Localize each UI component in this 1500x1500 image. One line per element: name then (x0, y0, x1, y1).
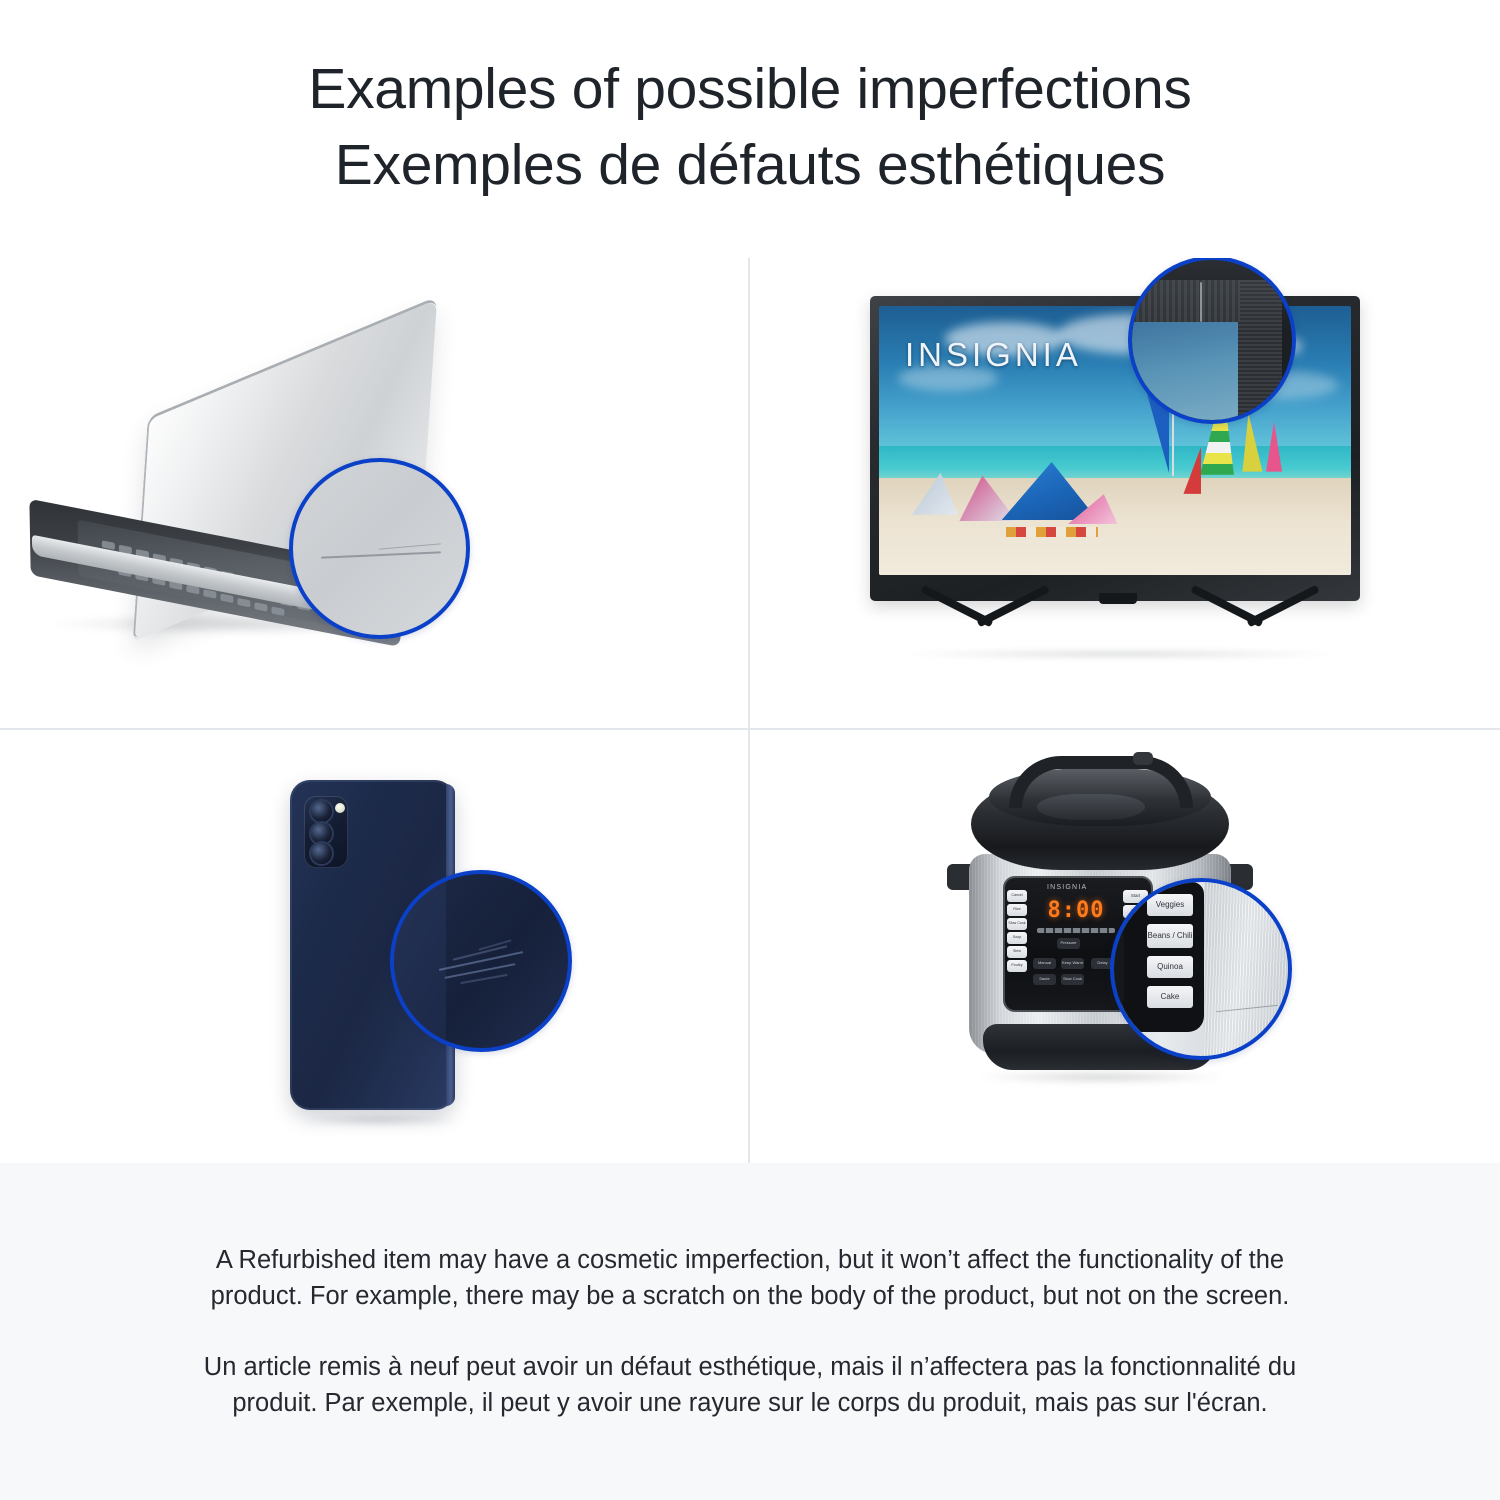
phone-camera-flash (335, 803, 345, 813)
example-cell-laptop (0, 258, 748, 728)
cooker-button-cancel[interactable]: Cancel (1007, 890, 1027, 902)
refurbished-imperfections-page: Examples of possible imperfections Exemp… (0, 0, 1500, 1500)
page-title-en: Examples of possible imperfections (308, 52, 1191, 127)
cooker-button-manual[interactable]: Manual (1033, 958, 1056, 969)
cooker-button-rice[interactable]: Rice (1007, 904, 1027, 916)
magnified-button-cake[interactable]: Cake (1147, 986, 1193, 1008)
cooker-pressure-scale (1037, 928, 1115, 933)
phone-camera-lens-3 (311, 843, 332, 864)
cooker-button-stew[interactable]: Stew (1007, 946, 1027, 958)
phone-camera-module (304, 796, 348, 868)
magnifier-tv-corner-scuff (1128, 258, 1296, 424)
tv-shadow (910, 648, 1330, 660)
cooker-button-slow-cook-inner[interactable]: Slow Cook (1061, 974, 1084, 985)
cooker-button-keep-warm[interactable]: Keep Warm (1061, 958, 1084, 969)
cooker-brand-text: INSIGNIA (1047, 884, 1087, 891)
example-cell-pressure-cooker: INSIGNIA 8:00 Cancel Rice Slow Cook Soup… (748, 728, 1500, 1163)
cooker-button-slow-cook[interactable]: Slow Cook (1007, 918, 1027, 930)
phone-camera-lens-2 (311, 823, 332, 844)
cooker-lid-handle (1009, 756, 1193, 808)
tv-brand-text: INSIGNIA (905, 336, 1082, 374)
cooker-display-value: 8:00 (1039, 898, 1113, 922)
disclaimer-footer: A Refurbished item may have a cosmetic i… (0, 1163, 1500, 1500)
tv-ir-receiver (1099, 593, 1137, 604)
magnifier-laptop-scratch (289, 458, 470, 639)
magnified-button-beans-chili[interactable]: Beans / Chili (1147, 924, 1193, 948)
cooker-button-soup[interactable]: Soup (1007, 932, 1027, 944)
example-cell-television: INSIGNIA (748, 258, 1500, 728)
cooker-shadow (981, 1070, 1221, 1084)
disclaimer-text-en: A Refurbished item may have a cosmetic i… (185, 1242, 1315, 1314)
disclaimer-text-fr: Un article remis à neuf peut avoir un dé… (185, 1349, 1315, 1421)
examples-grid: INSIGNIA (0, 258, 1500, 1163)
magnifier-phone-scratches (390, 870, 572, 1052)
magnified-button-quinoa[interactable]: Quinoa (1147, 956, 1193, 978)
cooker-button-saute[interactable]: Saute (1033, 974, 1056, 985)
pressure-cooker-illustration: INSIGNIA 8:00 Cancel Rice Slow Cook Soup… (750, 730, 1500, 1163)
example-cell-smartphone (0, 728, 748, 1163)
phone-shadow (304, 1114, 454, 1126)
magnified-button-veggies[interactable]: Veggies (1147, 894, 1193, 916)
phone-camera-lens-1 (311, 801, 332, 822)
television-illustration: INSIGNIA (750, 258, 1500, 728)
laptop-illustration (0, 258, 748, 728)
page-title-fr: Exemples de défauts esthétiques (335, 128, 1165, 203)
cooker-button-column-left[interactable]: Cancel Rice Slow Cook Soup Stew Poultry (1007, 890, 1027, 972)
cooker-steam-valve (1133, 752, 1153, 765)
magnifier-cooker-scratch: Veggies Beans / Chili Quinoa Cake (1110, 878, 1292, 1060)
tv-scene-sand (879, 478, 1351, 575)
cooker-button-poultry[interactable]: Poultry (1007, 960, 1027, 972)
page-header: Examples of possible imperfections Exemp… (0, 0, 1500, 255)
smartphone-illustration (0, 730, 748, 1163)
cooker-button-pressure-level[interactable]: Pressure (1057, 938, 1080, 949)
